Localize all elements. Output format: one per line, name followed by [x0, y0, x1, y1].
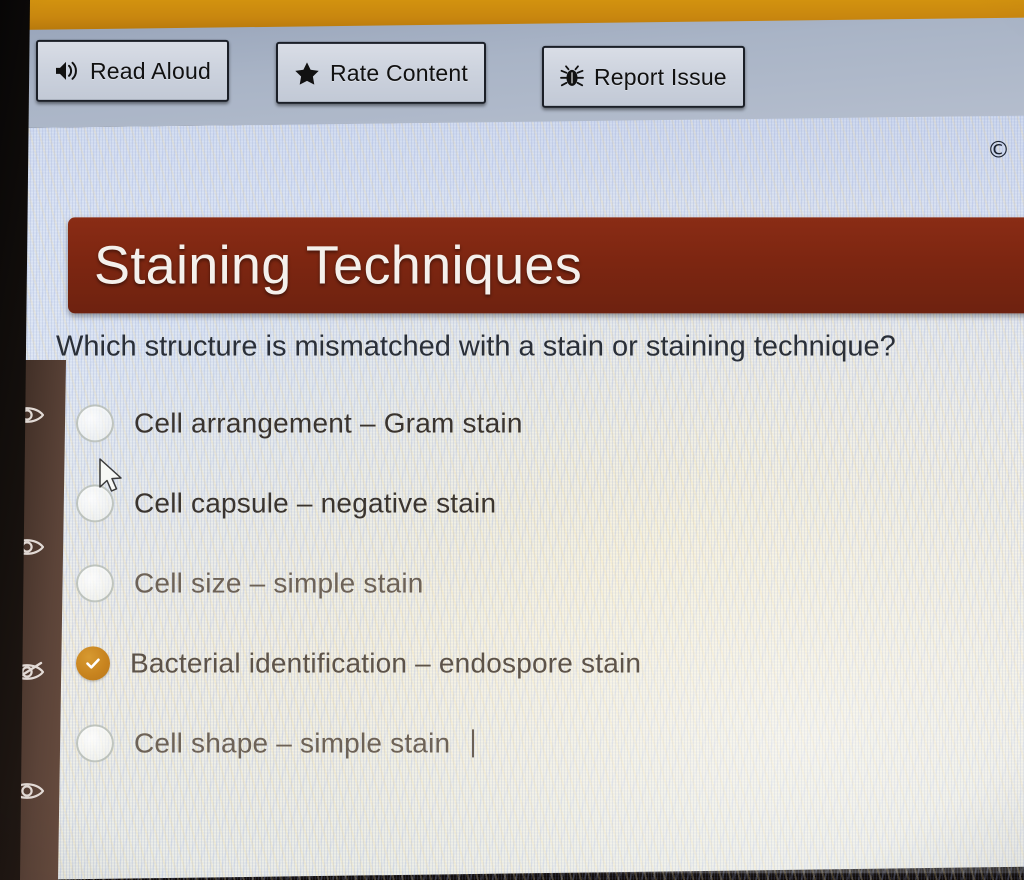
- option-row-1[interactable]: Cell arrangement – Gram stain: [76, 399, 976, 447]
- radio-unselected-icon[interactable]: [76, 564, 114, 602]
- speaker-icon: [54, 60, 80, 82]
- radio-unselected-icon[interactable]: [76, 724, 114, 762]
- page-title: Staining Techniques: [68, 238, 582, 292]
- read-aloud-button[interactable]: Read Aloud: [36, 40, 229, 102]
- option-label-5: Cell shape – simple stain: [134, 727, 450, 759]
- star-icon: [294, 60, 320, 85]
- option-row-4[interactable]: Bacterial identification – endospore sta…: [76, 639, 976, 687]
- option-label-1: Cell arrangement – Gram stain: [134, 407, 523, 439]
- radio-selected-check-icon[interactable]: [76, 646, 110, 680]
- option-row-3[interactable]: Cell size – simple stain: [76, 559, 976, 607]
- option-label-4: Bacterial identification – endospore sta…: [130, 647, 641, 679]
- option-label-3: Cell size – simple stain: [134, 567, 424, 599]
- slide-title-banner: Staining Techniques: [68, 217, 1024, 313]
- question-text: Which structure is mismatched with a sta…: [56, 329, 976, 364]
- text-caret: [472, 729, 474, 757]
- content-toolbar: Read Aloud Rate Content Report Issue: [14, 18, 1024, 128]
- report-issue-label: Report Issue: [594, 63, 727, 90]
- bug-icon: [560, 64, 584, 89]
- answer-options-list: Cell arrangement – Gram stain Cell capsu…: [76, 399, 976, 799]
- radio-unselected-icon[interactable]: [76, 404, 114, 442]
- report-issue-button[interactable]: Report Issue: [542, 46, 745, 108]
- read-aloud-label: Read Aloud: [90, 57, 211, 84]
- option-label-2: Cell capsule – negative stain: [134, 487, 496, 519]
- copyright-icon: ©: [987, 137, 1010, 163]
- option-row-2[interactable]: Cell capsule – negative stain: [76, 479, 976, 527]
- rate-content-label: Rate Content: [330, 59, 468, 86]
- screen-photo: Read Aloud Rate Content Report Issue: [0, 0, 1024, 880]
- lesson-slide: © Staining Techniques Which structure is…: [14, 115, 1024, 880]
- rate-content-button[interactable]: Rate Content: [276, 42, 486, 104]
- option-row-5[interactable]: Cell shape – simple stain: [76, 719, 976, 767]
- mouse-cursor: [98, 458, 128, 503]
